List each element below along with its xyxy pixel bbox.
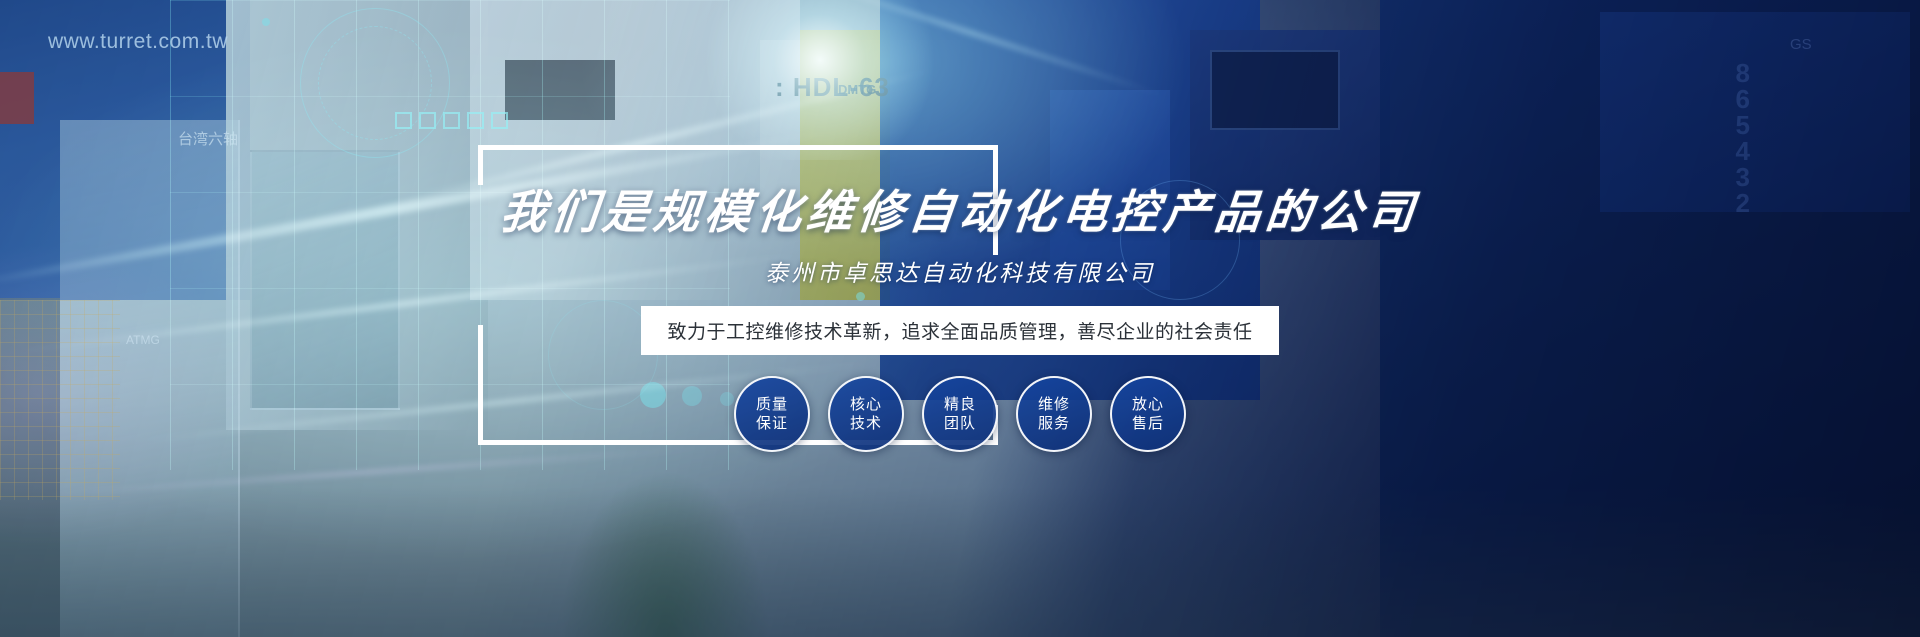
feature-circle-line2: 保证	[756, 414, 788, 433]
tagline-bar: 致力于工控维修技术革新，追求全面品质管理，善尽企业的社会责任	[641, 306, 1278, 355]
feature-circle-line2: 售后	[1132, 414, 1164, 433]
feature-circle-line1: 质量	[756, 395, 788, 414]
feature-circle-line1: 核心	[850, 395, 882, 414]
tagline-text: 致力于工控维修技术革新，追求全面品质管理，善尽企业的社会责任	[667, 321, 1252, 343]
company-name: 泰州市卓思达自动化科技有限公司	[765, 254, 1155, 288]
hero-content: 我们是规模化维修自动化电控产品的公司 泰州市卓思达自动化科技有限公司 致力于工控…	[0, 0, 1920, 637]
feature-circle-line2: 团队	[944, 414, 976, 433]
hero-banner: www.turret.com.tw 台湾六轴 : HDL-63 DMTG ATM…	[0, 0, 1920, 637]
feature-circle-line1: 维修	[1038, 395, 1070, 414]
feature-circle-line1: 放心	[1132, 395, 1164, 414]
feature-circle-quality[interactable]: 质量 保证	[734, 376, 810, 452]
feature-circle-list: 质量 保证 核心 技术 精良 团队 维修 服务 放心 售后	[734, 376, 1186, 452]
feature-circle-aftersales[interactable]: 放心 售后	[1110, 376, 1186, 452]
feature-circle-service[interactable]: 维修 服务	[1016, 376, 1092, 452]
feature-circle-line2: 服务	[1038, 414, 1070, 433]
feature-circle-team[interactable]: 精良 团队	[922, 376, 998, 452]
feature-circle-technology[interactable]: 核心 技术	[828, 376, 904, 452]
feature-circle-line2: 技术	[850, 414, 882, 433]
feature-circle-line1: 精良	[944, 395, 976, 414]
hero-headline: 我们是规模化维修自动化电控产品的公司	[498, 176, 1423, 242]
